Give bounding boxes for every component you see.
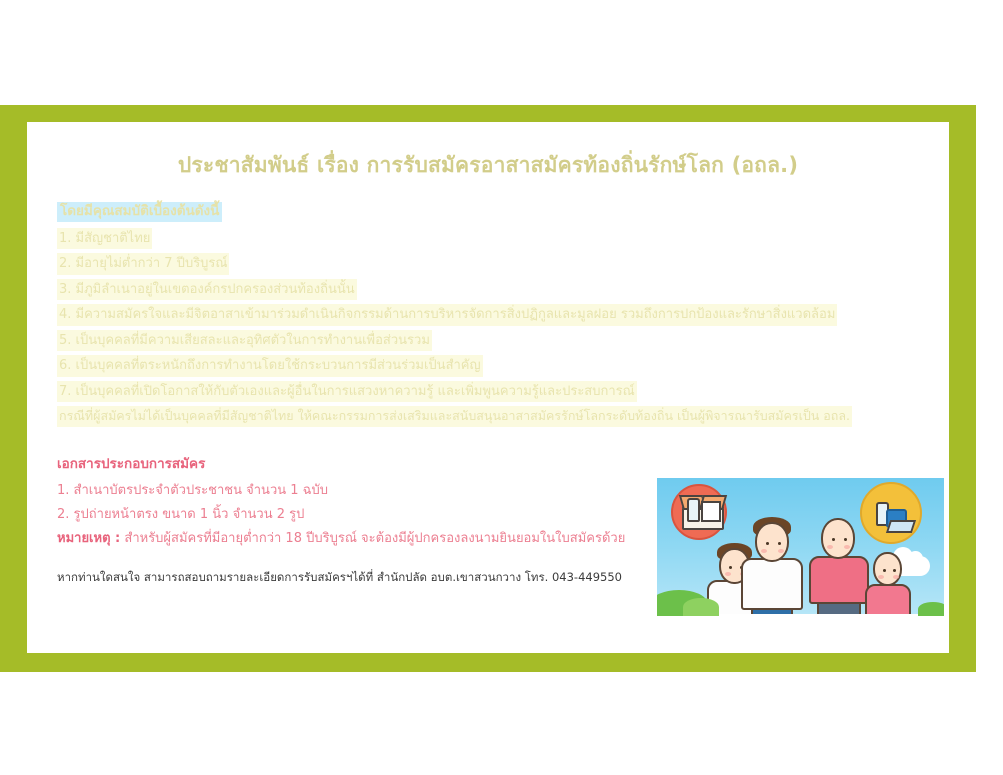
mother-shirt <box>809 556 869 604</box>
list-item: 3. มีภูมิลำเนาอยู่ในเขตองค์กรปกครองส่วนท… <box>57 279 357 301</box>
qualifications-section: โดยมีคุณสมบัติเบื้องต้นดังนี้ 1. มีสัญชา… <box>57 200 927 427</box>
eye-dot <box>844 538 847 541</box>
cheek-blush <box>778 549 784 553</box>
list-item: 2. รูปถ่ายหน้าตรง ขนาด 1 นิ้ว จำนวน 2 รู… <box>57 505 657 526</box>
list-item: 1. มีสัญชาติไทย <box>57 228 152 250</box>
remark-label: หมายเหตุ : <box>57 531 120 546</box>
list-item: 7. เป็นบุคคลที่เปิดโอกาสให้กับตัวเองและผ… <box>57 381 637 403</box>
list-item: 5. เป็นบุคคลที่มีความเสียสละและอุทิศตัวใ… <box>57 330 432 352</box>
qualifications-heading: โดยมีคุณสมบัติเบื้องต้นดังนี้ <box>57 202 222 222</box>
bottle-icon <box>687 498 700 522</box>
remark-text: สำหรับผู้สมัครที่มีอายุต่ำกว่า 18 ปีบริบ… <box>124 531 625 546</box>
cheek-blush <box>725 572 731 576</box>
cheek-blush <box>878 575 884 579</box>
father-head <box>755 522 789 562</box>
footer-contact-line: หากท่านใดสนใจ สามารถสอบถามรายละเอียดการร… <box>57 569 622 586</box>
cheek-blush <box>761 549 767 553</box>
father-shirt <box>741 558 803 610</box>
bush-shape <box>683 598 719 616</box>
list-item: 6. เป็นบุคคลที่ตระหนักถึงการทำงานโดยใช้ก… <box>57 355 483 377</box>
list-item: 4. มีความสมัครใจและมีจิตอาสาเข้ามาร่วมดำ… <box>57 304 837 326</box>
list-item: 1. สำเนาบัตรประจำตัวประชาชน จำนวน 1 ฉบับ <box>57 481 657 502</box>
documents-list: 1. สำเนาบัตรประจำตัวประชาชน จำนวน 1 ฉบับ… <box>57 481 657 526</box>
eye-dot <box>729 566 732 569</box>
qualifications-closing-paragraph: กรณีที่ผู้สมัครไม่ได้เป็นบุคคลที่มีสัญชา… <box>57 406 852 427</box>
poster-green-frame: ประชาสัมพันธ์ เรื่อง การรับสมัครอาสาสมัค… <box>0 105 976 672</box>
qualifications-list: 1. มีสัญชาติไทย 2. มีอายุไม่ต่ำกว่า 7 ปี… <box>57 228 927 403</box>
cheek-blush <box>893 575 899 579</box>
poster-white-canvas: ประชาสัมพันธ์ เรื่อง การรับสมัครอาสาสมัค… <box>27 122 949 653</box>
page-title: ประชาสัมพันธ์ เรื่อง การรับสมัครอาสาสมัค… <box>27 149 949 182</box>
mother-head <box>821 518 855 559</box>
eye-dot <box>883 569 886 572</box>
documents-remark: หมายเหตุ : สำหรับผู้สมัครที่มีอายุต่ำกว่… <box>57 529 657 550</box>
documents-heading: เอกสารประกอบการสมัคร <box>57 452 205 474</box>
documents-section: เอกสารประกอบการสมัคร 1. สำเนาบัตรประจำตั… <box>57 452 657 549</box>
girl-head <box>873 552 902 586</box>
eye-dot <box>766 542 769 545</box>
ground-strip <box>657 614 944 630</box>
family-figures <box>713 486 918 630</box>
cheek-blush <box>844 545 850 549</box>
list-item: 2. มีอายุไม่ต่ำกว่า 7 ปีบริบูรณ์ <box>57 253 229 275</box>
eye-dot <box>832 538 835 541</box>
family-recycling-illustration <box>657 478 944 630</box>
bush-shape <box>918 602 944 616</box>
cheek-blush <box>827 545 833 549</box>
eye-dot <box>778 542 781 545</box>
eye-dot <box>893 569 896 572</box>
